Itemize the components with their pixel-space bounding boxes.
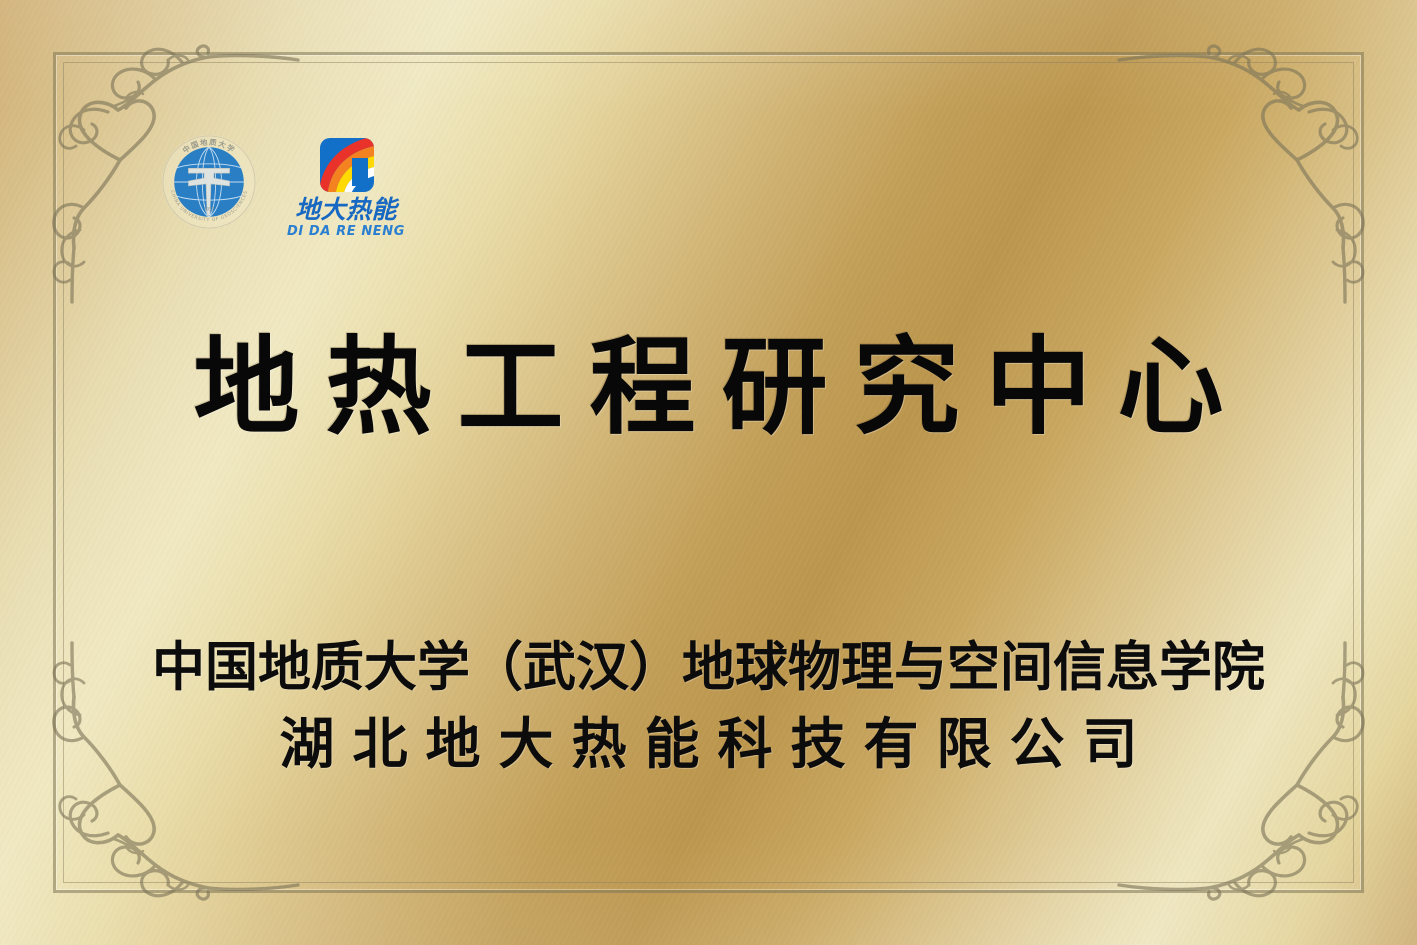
organization-line-2: 湖北地大热能科技有限公司 [0,712,1417,777]
cug-emblem-logo: 中国地质大学 CHINA UNIVERSITY OF GEOSCIENCES 1… [160,133,258,235]
didareneng-wordmark-pinyin: DI DA RE NENG [287,224,405,239]
svg-text:1952: 1952 [204,206,214,211]
didareneng-wordmark-cn: 地大热能 [295,195,400,224]
logo-row: 中国地质大学 CHINA UNIVERSITY OF GEOSCIENCES 1… [160,133,410,248]
page-title: 地热工程研究中心 [0,334,1417,442]
didareneng-logo: 地大热能 DI DA RE NENG [282,133,410,248]
organization-line-1: 中国地质大学（武汉）地球物理与空间信息学院 [0,637,1417,700]
plaque-root: 中国地质大学 CHINA UNIVERSITY OF GEOSCIENCES 1… [0,0,1417,945]
organization-block: 中国地质大学（武汉）地球物理与空间信息学院 湖北地大热能科技有限公司 [0,637,1417,776]
